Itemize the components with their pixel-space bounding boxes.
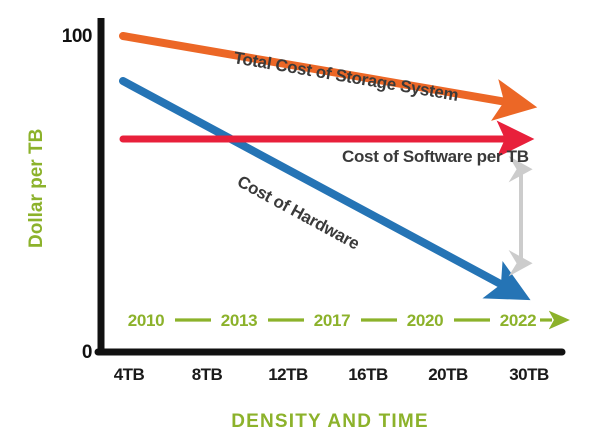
y-axis-title: Dollar per TB (26, 129, 47, 248)
series-line-blue (123, 81, 508, 288)
x-tick-label: 16TB (348, 365, 388, 384)
x-tick-label: 4TB (114, 365, 145, 384)
year-timeline: 2010 2013 2017 2020 2022 (128, 311, 552, 330)
year-label-2017: 2017 (314, 311, 351, 330)
series-cost-of-hardware (123, 81, 508, 288)
x-tick-label: 30TB (509, 365, 549, 384)
x-tick-label: 12TB (268, 365, 308, 384)
x-tick-label: 20TB (428, 365, 468, 384)
series-label-cost-of-hardware: Cost of Hardware (234, 172, 363, 254)
x-axis-tick-labels: 4TB 8TB 12TB 16TB 20TB 30TB (114, 365, 549, 384)
year-label-2020: 2020 (407, 311, 444, 330)
series-label-total-cost: Total Cost of Storage System (232, 48, 460, 105)
year-label-2022: 2022 (500, 311, 537, 330)
chart-container: 100 0 Dollar per TB 4TB 8TB 12TB 16TB 20… (0, 0, 600, 445)
y-axis-min-label: 0 (82, 342, 92, 363)
year-label-2010: 2010 (128, 311, 165, 330)
series-label-cost-of-software: Cost of Software per TB (342, 147, 529, 166)
chart-canvas: 100 0 Dollar per TB 4TB 8TB 12TB 16TB 20… (0, 0, 600, 445)
x-axis-title: DENSITY AND TIME (231, 411, 429, 432)
year-label-2013: 2013 (221, 311, 258, 330)
y-axis-max-label: 100 (62, 26, 92, 47)
x-tick-label: 8TB (192, 365, 223, 384)
